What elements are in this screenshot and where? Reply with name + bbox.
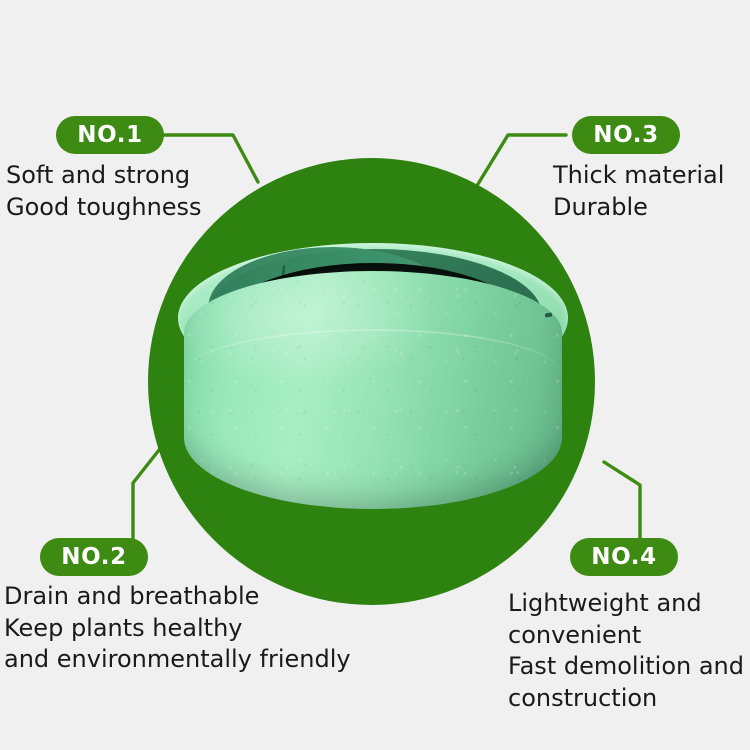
- rim-stitch-line: [186, 329, 560, 417]
- feature-caption-1: Soft and strong Good toughness: [6, 160, 296, 223]
- product-image-grow-bag: [178, 243, 568, 523]
- feature-badge-1: NO.1: [56, 116, 164, 154]
- feature-badge-4: NO.4: [570, 538, 678, 576]
- connector-line-4: [604, 462, 640, 538]
- feature-caption-4: Lightweight and convenient Fast demoliti…: [508, 588, 750, 715]
- feature-badge-3: NO.3: [572, 116, 680, 154]
- feature-caption-2: Drain and breathable Keep plants healthy…: [4, 581, 374, 676]
- feature-caption-3: Thick material Durable: [553, 160, 750, 223]
- connector-line-2: [133, 450, 159, 538]
- infographic-canvas: NO.1 Soft and strong Good toughness NO.3…: [0, 0, 750, 750]
- feature-badge-2: NO.2: [40, 538, 148, 576]
